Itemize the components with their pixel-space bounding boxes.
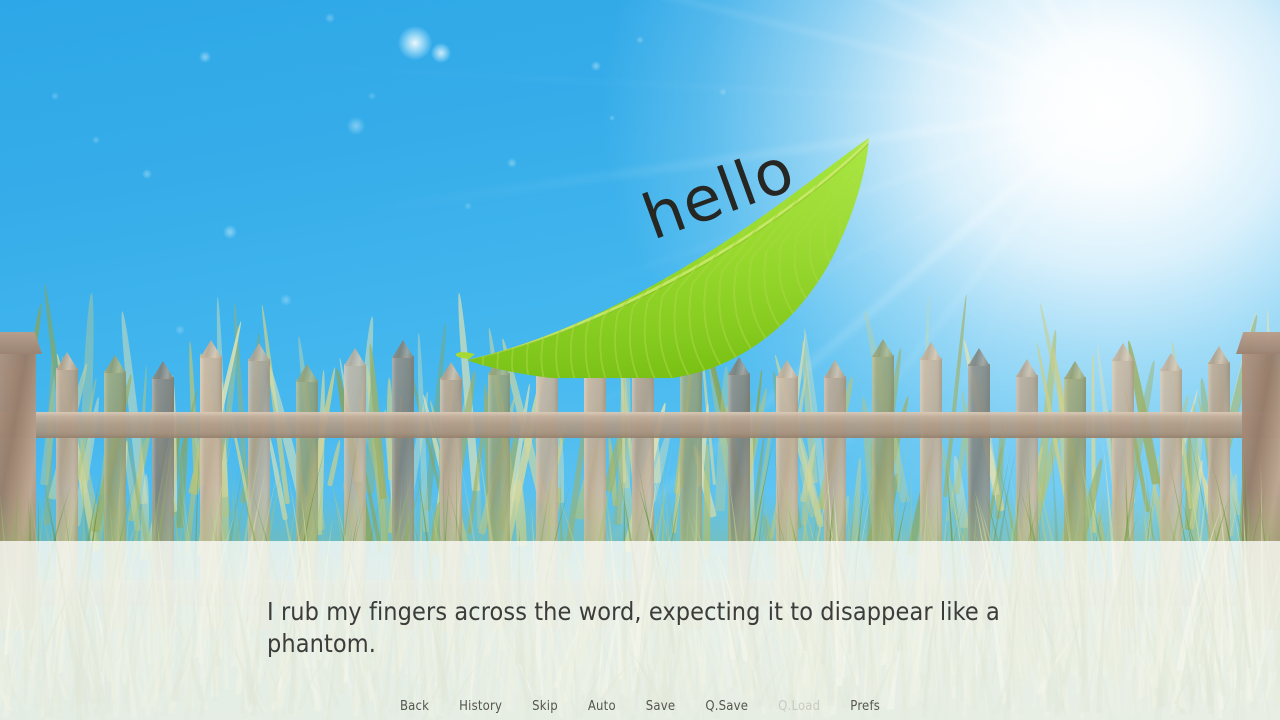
quick-menu-history[interactable]: History [459,699,502,714]
quick-menu-save[interactable]: Save [646,699,676,714]
quick-menu-back[interactable]: Back [400,699,429,714]
quick-menu-bar[interactable]: BackHistorySkipAutoSaveQ.SaveQ.LoadPrefs [0,696,1280,716]
leaf-vein [484,319,511,354]
quick-menu-q-save[interactable]: Q.Save [705,699,748,714]
leaf-vein [855,206,869,250]
fence-post-cap [0,332,42,354]
quick-menu-prefs[interactable]: Prefs [850,699,880,714]
quick-menu-auto[interactable]: Auto [588,699,616,714]
leaf-with-message: hello [455,128,885,378]
leaf-vein [855,206,869,250]
quick-menu-q-load: Q.Load [778,699,820,714]
leaf-vein [484,319,511,354]
game-scene[interactable]: hello I rub my fingers across the word, … [0,0,1280,720]
fence-post-cap [1236,332,1280,354]
quick-menu-skip[interactable]: Skip [532,699,558,714]
dialogue-text: I rub my fingers across the word, expect… [267,596,1027,660]
leaf-stem [456,352,475,359]
